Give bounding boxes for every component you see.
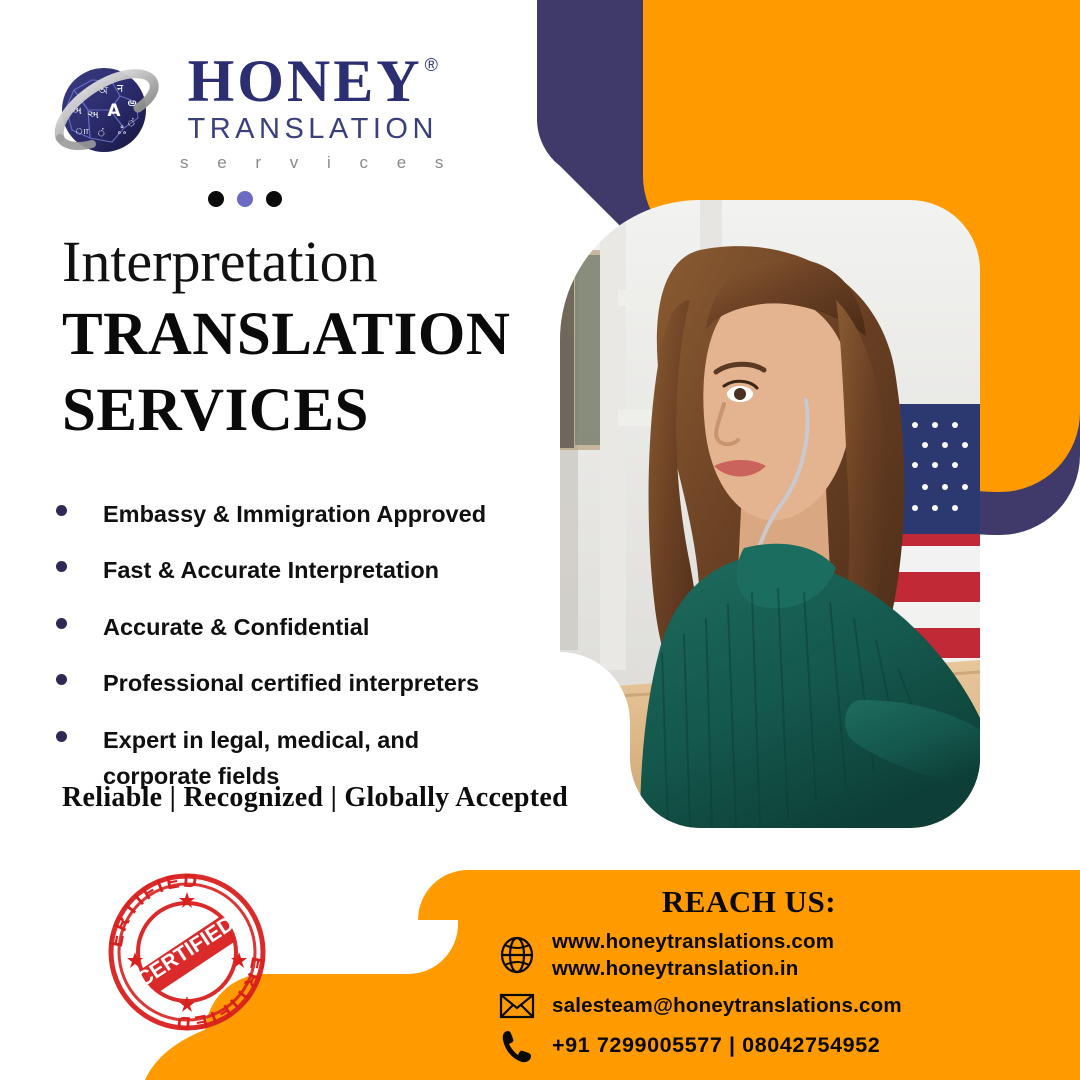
svg-text:CERTIFIED: CERTIFIED bbox=[100, 866, 201, 949]
headline-bold-line-2: SERVICES bbox=[62, 377, 532, 445]
dot-3 bbox=[266, 191, 282, 207]
envelope-icon bbox=[496, 992, 538, 1020]
bullet-dot-icon bbox=[56, 674, 67, 685]
contact-section: REACH US: www.honeytranslations.com www.… bbox=[418, 870, 1080, 1080]
dot-2 bbox=[237, 191, 253, 207]
dot-1 bbox=[208, 191, 224, 207]
contact-rows: www.honeytranslations.com www.honeytrans… bbox=[496, 928, 1070, 1072]
certified-stamp-svg: CERTIFIED CERTIFIED CERTIFIED bbox=[100, 866, 275, 1038]
list-item: Embassy & Immigration Approved bbox=[56, 496, 526, 532]
photo-image bbox=[560, 200, 980, 828]
phone-icon bbox=[496, 1029, 538, 1063]
bullet-dot-icon bbox=[56, 731, 67, 742]
list-item: Fast & Accurate Interpretation bbox=[56, 552, 526, 588]
list-item: Accurate & Confidential bbox=[56, 609, 526, 645]
website-line-1[interactable]: www.honeytranslations.com bbox=[552, 928, 834, 955]
svg-text:்: ் bbox=[97, 126, 107, 139]
contact-row-phone[interactable]: +91 7299005577 | 08042754952 bbox=[496, 1029, 1070, 1063]
contact-row-website[interactable]: www.honeytranslations.com www.honeytrans… bbox=[496, 928, 1070, 983]
logo-secondary-name: TRANSLATION bbox=[188, 113, 438, 146]
list-item-label: Embassy & Immigration Approved bbox=[103, 496, 486, 532]
contact-phone-text: +91 7299005577 | 08042754952 bbox=[552, 1031, 880, 1060]
logo-wordmark: HONEY ® TRANSLATION s e r v i c e s bbox=[170, 48, 455, 173]
poster-canvas: க অ न అ અ અ A ் ா ் ஃ HONEY ® TRANSLATIO… bbox=[0, 0, 1080, 1080]
contact-title: REACH US: bbox=[418, 884, 1080, 920]
website-line-2[interactable]: www.honeytranslation.in bbox=[552, 955, 834, 982]
features-list: Embassy & Immigration Approved Fast & Ac… bbox=[56, 496, 526, 815]
contact-email-text: salesteam@honeytranslations.com bbox=[552, 992, 902, 1019]
headline-script-line: Interpretation bbox=[62, 232, 532, 293]
svg-text:न: न bbox=[117, 82, 124, 95]
list-item: Professional certified interpreters bbox=[56, 665, 526, 701]
contact-website-text: www.honeytranslations.com www.honeytrans… bbox=[552, 928, 834, 983]
list-item-label: Accurate & Confidential bbox=[103, 609, 369, 645]
contact-row-email[interactable]: salesteam@honeytranslations.com bbox=[496, 992, 1070, 1020]
certified-stamp-icon: CERTIFIED CERTIFIED CERTIFIED bbox=[100, 866, 275, 1038]
bullet-dot-icon bbox=[56, 505, 67, 516]
logo-primary-name: HONEY bbox=[188, 52, 423, 111]
brand-logo[interactable]: க অ न అ અ અ A ் ா ் ஃ HONEY ® TRANSLATIO… bbox=[52, 48, 455, 173]
bullet-dot-icon bbox=[56, 618, 67, 629]
svg-text:்: ் bbox=[127, 116, 137, 129]
tagline: Reliable | Recognized | Globally Accepte… bbox=[62, 782, 568, 814]
list-item-label: Professional certified interpreters bbox=[103, 665, 479, 701]
headline-bold-line-1: TRANSLATION bbox=[62, 301, 532, 369]
list-item-label: Fast & Accurate Interpretation bbox=[103, 552, 439, 588]
svg-text:ஃ: ஃ bbox=[118, 124, 127, 137]
svg-text:ா: ா bbox=[75, 124, 89, 137]
decorative-dots bbox=[208, 191, 282, 207]
svg-text:A: A bbox=[107, 101, 121, 121]
globe-languages-icon: க অ न అ અ અ A ் ா ் ஃ bbox=[52, 54, 162, 166]
bullet-dot-icon bbox=[56, 561, 67, 572]
logo-tertiary-name: s e r v i c e s bbox=[170, 153, 455, 173]
phone-line[interactable]: +91 7299005577 | 08042754952 bbox=[552, 1031, 880, 1060]
registered-trademark-icon: ® bbox=[425, 56, 438, 74]
svg-text:અ: અ bbox=[87, 108, 99, 121]
email-line[interactable]: salesteam@honeytranslations.com bbox=[552, 992, 902, 1019]
headline-block: Interpretation TRANSLATION SERVICES bbox=[62, 232, 532, 446]
globe-icon bbox=[496, 936, 538, 974]
